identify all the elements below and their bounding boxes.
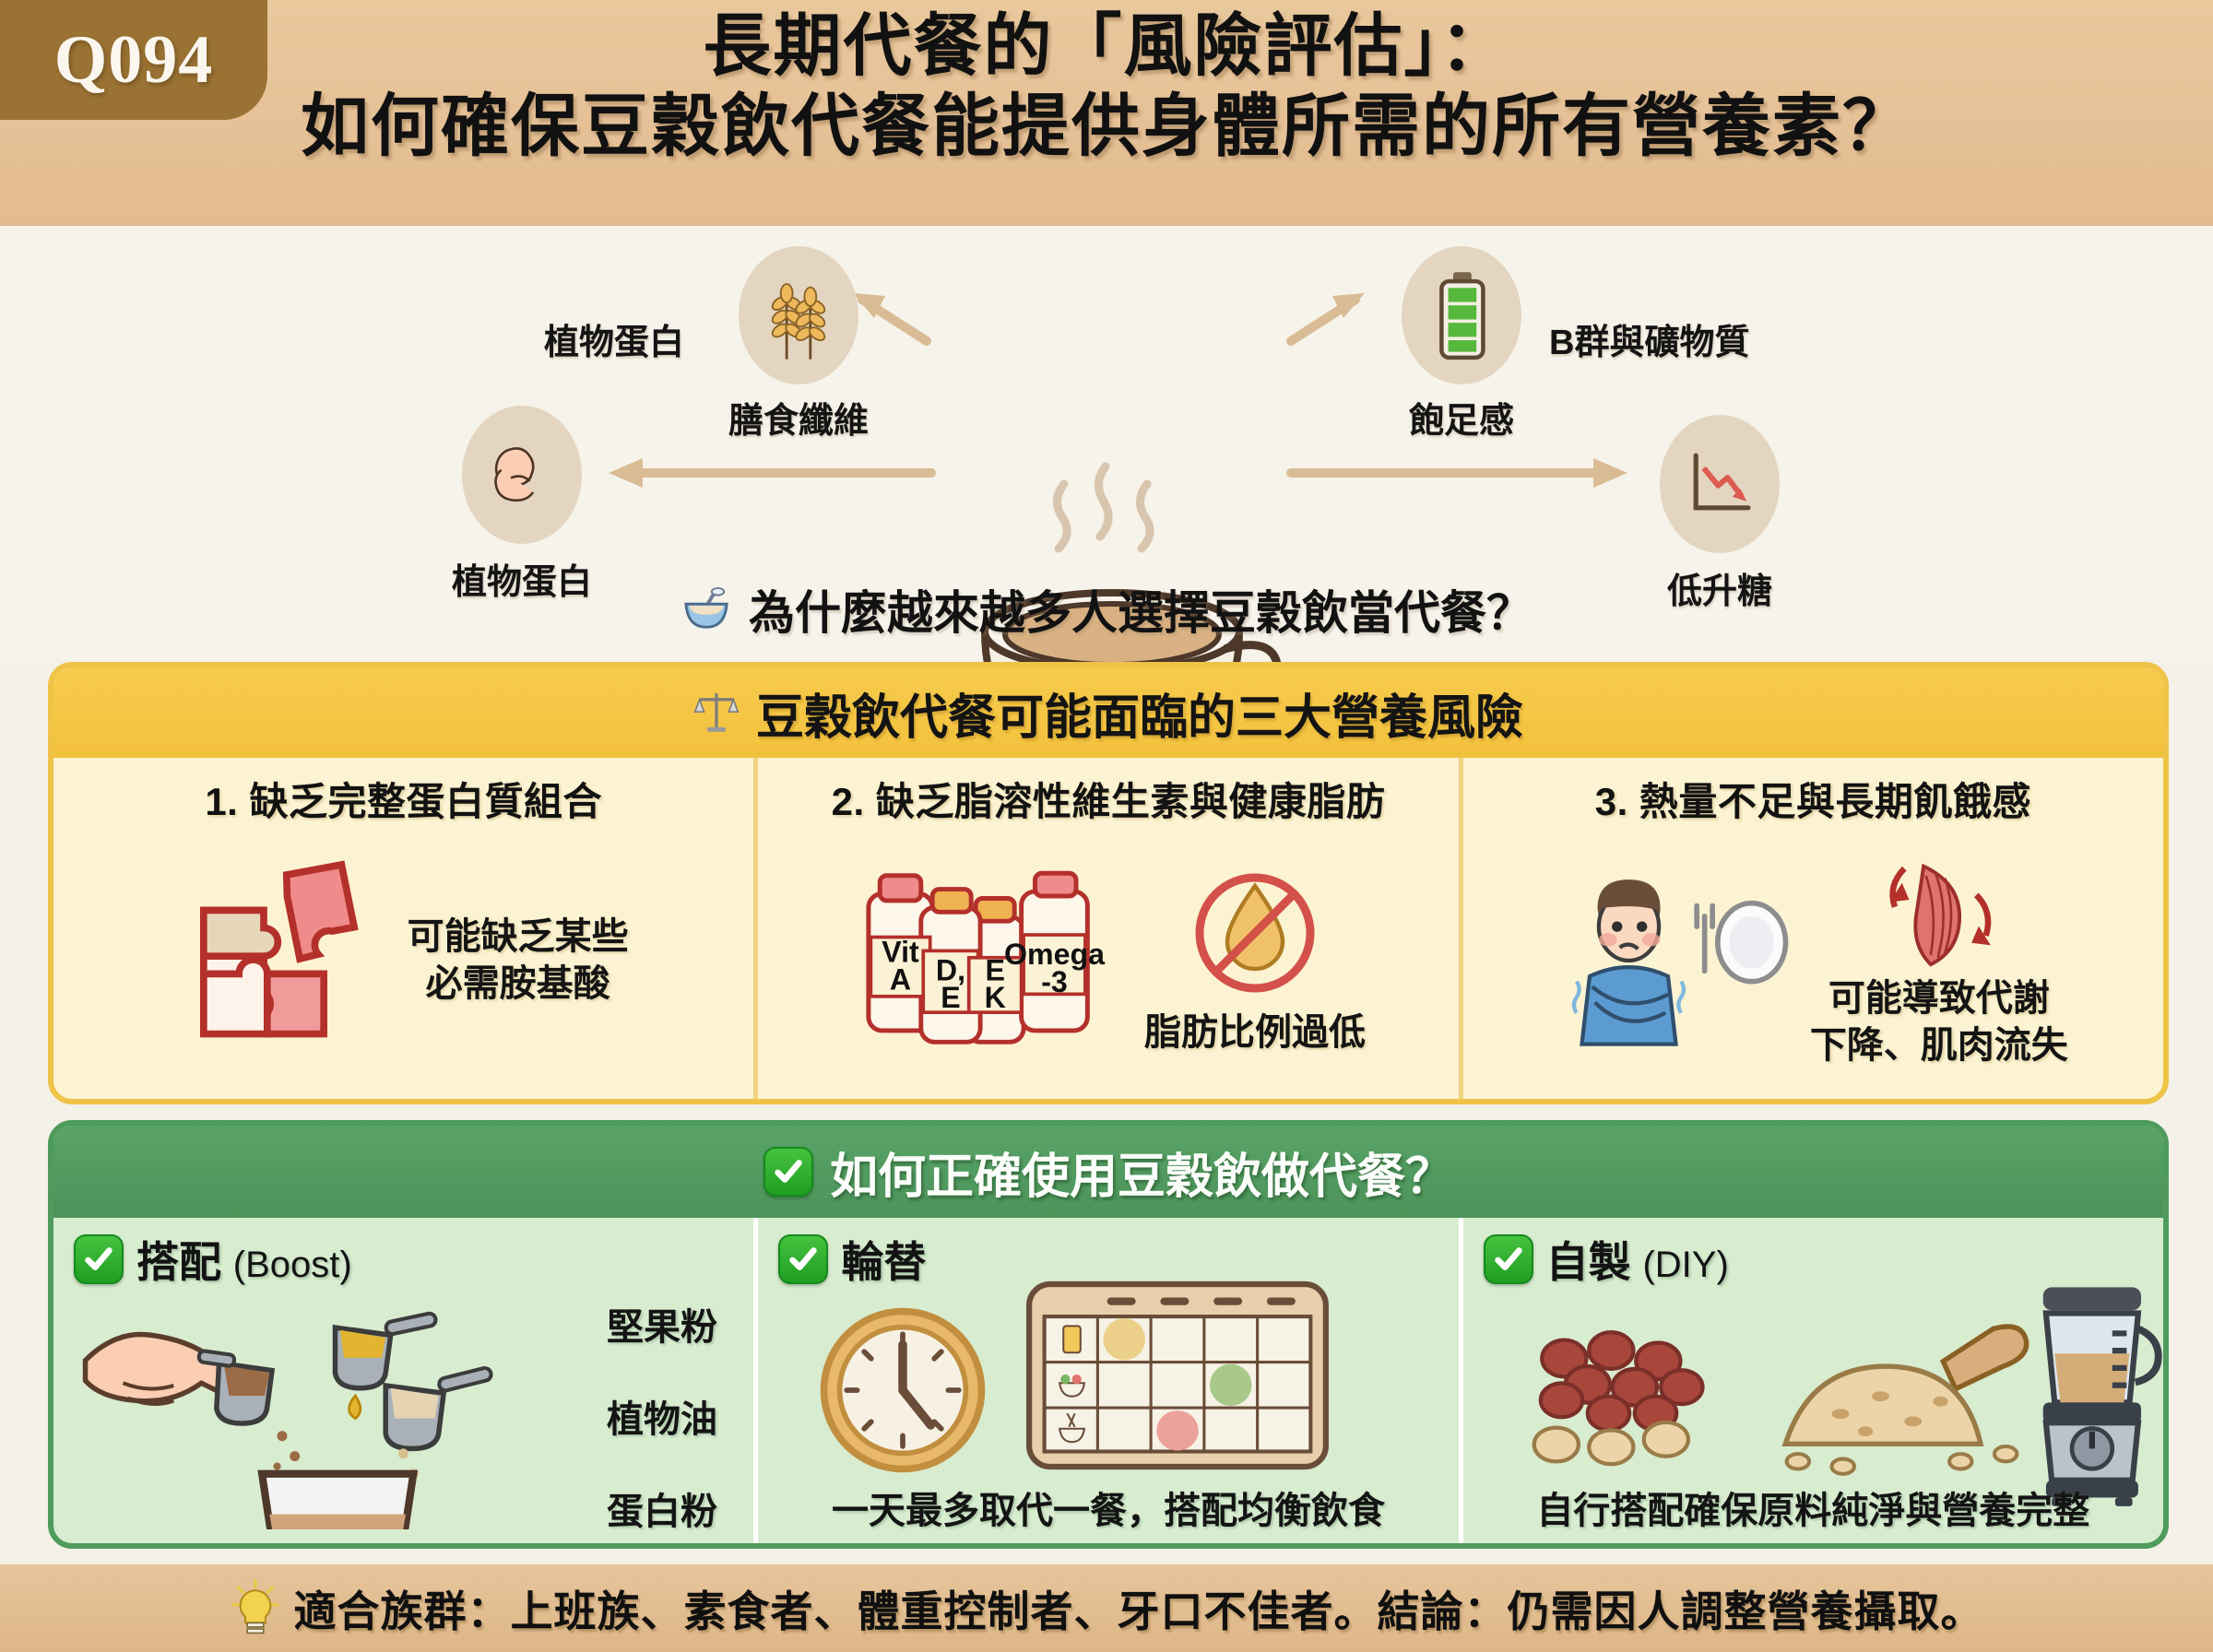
muscle-icon [462, 406, 582, 544]
risk-card-3-note-line2: 下降、肌肉流失 [1810, 1025, 2068, 1066]
howto-diy-title-zh: 自製 [1546, 1238, 1631, 1286]
risk-card-1-note-line1: 可能缺乏某些 [408, 916, 629, 957]
risks-heading-text: 豆穀飲代餐可能面臨的三大營養風險 [756, 678, 1523, 748]
risk-card-3-title: 3. 熱量不足與長期飢餓感 [1473, 771, 2154, 827]
declining-chart-icon [1660, 415, 1780, 553]
beans-icon [1509, 1319, 1786, 1476]
howto-boost-title-zh: 搭配 [136, 1238, 221, 1286]
risk-card-3-note: 可能導致代謝 下降、肌肉流失 [1810, 975, 2068, 1069]
howto-heading: 如何正確使用豆穀飲做代餐？ [53, 1126, 2163, 1218]
howto-panel: 如何正確使用豆穀飲做代餐？ 搭配 (Boost) [48, 1120, 2169, 1549]
balance-scale-icon [693, 689, 740, 737]
arrow-to-protein [609, 458, 931, 488]
check-box-icon [763, 1147, 813, 1197]
howto-boost-label-3: 蛋白粉 [607, 1481, 717, 1535]
howto-rotate-caption: 一天最多取代一餐，搭配均衡飲食 [758, 1481, 1458, 1534]
howto-card-rotate: 輪替 [753, 1218, 1458, 1543]
svg-text:A: A [890, 962, 911, 996]
clock-icon [815, 1303, 990, 1478]
check-box-icon-boost [74, 1234, 124, 1284]
arrow-to-lowgi [1291, 458, 1627, 488]
node-label-fiber: 膳食纖維 [728, 392, 869, 442]
title-line-2: 如何確保豆穀飲代餐能提供身體所需的所有營養素？ [0, 86, 2213, 166]
node-dietary-fiber: 膳食纖維 [728, 246, 869, 442]
hand-scoop-glass-icon [72, 1290, 588, 1529]
howto-boost-label-2: 植物油 [607, 1389, 717, 1443]
muscle-loss-icon [1870, 852, 2008, 972]
risk-card-2-title: 2. 缺乏脂溶性維生素與健康脂肪 [767, 771, 1449, 827]
node-plant-protein: 植物蛋白 [452, 406, 592, 604]
blender-icon [2007, 1279, 2169, 1509]
risk-card-1-note: 可能缺乏某些 必需胺基酸 [408, 914, 629, 1008]
howto-cards-row: 搭配 (Boost) [53, 1218, 2163, 1543]
risk-card-2: 2. 缺乏脂溶性維生素與健康脂肪 [753, 758, 1458, 1099]
footer-text: 適合族群：上班族、素食者、體重控制者、牙口不佳者。結論：仍需因人調整營養攝取。 [294, 1578, 1984, 1639]
howto-heading-text: 如何正確使用豆穀飲做代餐？ [830, 1138, 1453, 1207]
howto-boost-title-en: (Boost) [233, 1245, 352, 1285]
hero-question: 為什麼越來越多人選擇豆穀飲當代餐？ [0, 576, 2213, 643]
risk-card-2-note: 脂肪比例過低 [1144, 1009, 1366, 1056]
howto-boost-label-1: 堅果粉 [607, 1297, 717, 1351]
battery-icon [1402, 246, 1521, 384]
bowl-spoon-icon [680, 586, 734, 632]
infographic-page: Q094 長期代餐的「風險評估」： 如何確保豆穀飲代餐能提供身體所需的所有營養素… [0, 0, 2213, 1652]
node-label-bvitamins: B群與礦物質 [1549, 313, 1749, 364]
howto-rotate-title-zh: 輪替 [841, 1238, 926, 1286]
page-title: 長期代餐的「風險評估」： 如何確保豆穀飲代餐能提供身體所需的所有營養素？ [0, 6, 2213, 167]
check-box-icon-rotate [778, 1234, 828, 1284]
howto-card-boost: 搭配 (Boost) [53, 1218, 753, 1543]
risks-panel: 豆穀飲代餐可能面臨的三大營養風險 1. 缺乏完整蛋白質組合 可能缺乏某些 [48, 662, 2169, 1104]
lightbulb-icon [230, 1578, 281, 1639]
arrow-to-bvitamins [1291, 293, 1365, 341]
no-oil-drop-icon [1186, 864, 1324, 1002]
risk-card-3: 3. 熱量不足與長期飢餓感 [1459, 758, 2163, 1099]
howto-card-diy: 自製 (DIY) [1459, 1218, 2163, 1543]
risk-card-3-note-line1: 可能導致代謝 [1828, 978, 2050, 1019]
puzzle-pieces-icon [179, 850, 391, 1071]
svg-text:K: K [985, 981, 1006, 1014]
svg-text:E: E [941, 981, 960, 1014]
risks-heading: 豆穀飲代餐可能面臨的三大營養風險 [53, 667, 2163, 758]
hero-question-text: 為什麼越來越多人選擇豆穀飲當代餐？ [749, 576, 1533, 643]
hungry-person-icon [1558, 855, 1793, 1067]
node-satiety: 飽足感 [1402, 246, 1521, 442]
meal-plan-calendar-icon [1025, 1279, 1330, 1472]
risk-card-1: 1. 缺乏完整蛋白質組合 可能缺乏某些 必需胺基酸 [53, 758, 753, 1099]
howto-card-boost-title: 搭配 (Boost) [136, 1229, 352, 1290]
node-label-plant-protein-top: 植物蛋白 [544, 313, 684, 364]
howto-card-rotate-title: 輪替 [841, 1229, 926, 1290]
risk-cards-row: 1. 缺乏完整蛋白質組合 可能缺乏某些 必需胺基酸 [53, 758, 2163, 1099]
howto-diy-title-en: (DIY) [1642, 1245, 1728, 1285]
wheat-icon [739, 246, 858, 384]
risk-card-1-title: 1. 缺乏完整蛋白質組合 [63, 771, 744, 827]
vitamin-bottles-icon: Vit A D, E E K Omega -3 [851, 853, 1128, 1069]
howto-diy-caption: 自行搭配確保原料純淨與營養完整 [1463, 1481, 2163, 1534]
howto-card-diy-title: 自製 (DIY) [1546, 1229, 1729, 1290]
svg-text:-3: -3 [1041, 964, 1068, 997]
check-box-icon-diy [1484, 1234, 1533, 1284]
title-line-1: 長期代餐的「風險評估」： [0, 6, 2213, 86]
risk-card-1-note-line2: 必需胺基酸 [426, 963, 610, 1004]
header-bar: Q094 長期代餐的「風險評估」： 如何確保豆穀飲代餐能提供身體所需的所有營養素… [0, 0, 2213, 226]
node-label-satiety: 飽足感 [1409, 392, 1514, 442]
footer-bar: 適合族群：上班族、素食者、體重控制者、牙口不佳者。結論：仍需因人調整營養攝取。 [0, 1564, 2213, 1652]
